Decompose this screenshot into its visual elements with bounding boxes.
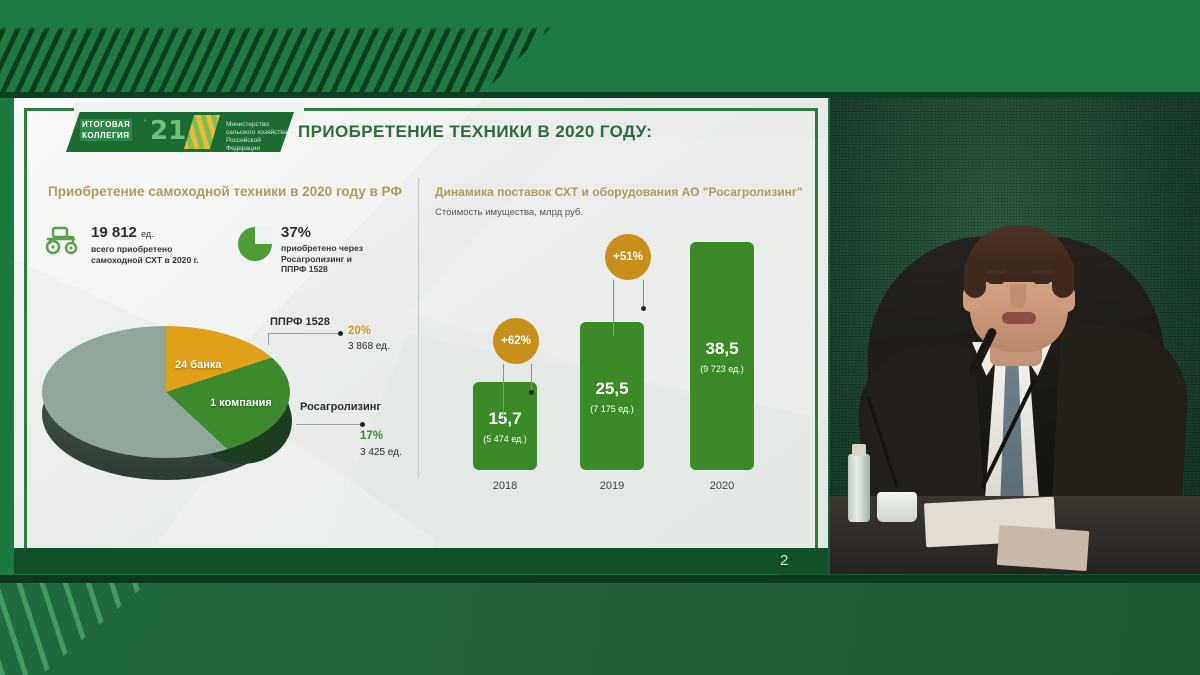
growth-badge-2020: +51% (605, 234, 651, 280)
bar-2018-value: 15,7 (488, 409, 521, 429)
background-bottom-band (0, 579, 1200, 675)
bar-2019-category: 2019 (580, 480, 644, 492)
pie-slice-label-banks: 24 банка (175, 359, 221, 371)
speaker-video-feed (830, 98, 1200, 574)
pie-slice-label-company: 1 компания (210, 397, 272, 409)
left-column-heading: Приобретение самоходной техники в 2020 г… (48, 184, 402, 199)
water-bottle-cap (852, 444, 866, 456)
growth-badge-2019-dot (529, 390, 534, 395)
speaker-hair-side-left (964, 258, 986, 298)
column-divider (418, 178, 419, 478)
logo-ministry-text: Министерство сельского хозяйства Российс… (226, 121, 294, 153)
kpi-total-unit: ед. (141, 229, 154, 239)
pie-chart-surface (42, 326, 290, 458)
bar-chart: 15,7 (5 474 ед.) 2018 25,5 (7 175 ед.) 2… (435, 240, 815, 500)
logo-wordmark: ИТОГОВАЯ КОЛЛЕГИЯ (80, 119, 132, 141)
tractor-icon (44, 225, 82, 255)
bar-2019-units: (7 175 ед.) (590, 404, 634, 414)
broadcast-screen: ИТОГОВАЯ КОЛЛЕГИЯ ’ 21 Министерство сель… (0, 0, 1200, 675)
drinking-glass (877, 492, 917, 522)
pie-icon (238, 227, 272, 261)
bar-2019-value: 25,5 (595, 379, 628, 399)
kpi-total-machinery: 19 812 ед. всего приобретено самоходной … (44, 225, 199, 265)
kpi-total-value: 19 812 ед. (91, 225, 199, 242)
callout-value-pprf: 3 868 ед. (348, 341, 390, 352)
growth-badge-2019-stem-left (503, 364, 504, 418)
kpi-share-description: приобретено через Росагролизинг и ППРФ 1… (281, 243, 363, 275)
bar-2020-units: (9 723 ед.) (700, 364, 744, 374)
bar-2019: 25,5 (7 175 ед.) (580, 322, 644, 470)
slide-title: ПРИОБРЕТЕНИЕ ТЕХНИКИ В 2020 ГОДУ: (298, 122, 652, 142)
speaker-hair-side-right (1052, 256, 1074, 298)
speaker-mouth (1002, 312, 1036, 324)
growth-badge-2019: +62% (493, 318, 539, 364)
callout-leader-rosagroleasing (296, 424, 362, 425)
bar-2018-units: (5 474 ед.) (483, 434, 527, 444)
callout-percent-pprf: 20% (348, 325, 371, 337)
growth-badge-2019-stem-right (531, 364, 532, 392)
kpi-total-description: всего приобретено самоходной СХТ в 2020 … (91, 244, 199, 265)
slide-footer (14, 548, 828, 574)
growth-badge-2020-dot (641, 306, 646, 311)
bar-2020-category: 2020 (690, 480, 754, 492)
logo-apostrophe: ’ (144, 118, 146, 128)
kpi-share-leasing: 37% приобретено через Росагролизинг и ПП… (238, 225, 363, 275)
callout-value-rosagroleasing: 3 425 ед. (360, 447, 402, 458)
bar-2020: 38,5 (9 723 ед.) (690, 242, 754, 470)
growth-badge-2020-stem-left (613, 280, 614, 336)
podium-papers-second (997, 525, 1090, 571)
background-bottom-divider (0, 575, 1200, 583)
speaker-eyebrow-left (986, 270, 1006, 274)
water-bottle (848, 454, 870, 522)
collegium-logo: ИТОГОВАЯ КОЛЛЕГИЯ ’ 21 Министерство сель… (66, 112, 294, 152)
speaker-eye-right (1034, 278, 1050, 284)
page-number: 2 (780, 552, 788, 569)
growth-badge-2020-stem-right (643, 280, 644, 308)
speaker-eye-left (988, 278, 1004, 284)
callout-title-rosagroleasing: Росагролизинг (300, 401, 381, 413)
kpi-share-value: 37% (281, 225, 363, 241)
logo-line-1: ИТОГОВАЯ (80, 119, 132, 130)
speaker-eyebrow-right (1032, 270, 1052, 274)
bar-2018-category: 2018 (473, 480, 537, 492)
bar-2018: 15,7 (5 474 ед.) (473, 382, 537, 470)
callout-dot-pprf (338, 331, 343, 336)
kpi-total-number: 19 812 (91, 224, 137, 241)
callout-percent-rosagroleasing: 17% (360, 430, 383, 442)
logo-year: 21 (150, 116, 186, 146)
callout-leader-pprf-down (268, 333, 269, 345)
bar-2020-value: 38,5 (705, 339, 738, 359)
speaker-nose (1010, 284, 1026, 308)
callout-title-pprf: ППРФ 1528 (270, 316, 330, 328)
right-column-subheading: Стоимость имущества, млрд руб. (435, 207, 583, 218)
pie-chart: 24 банка 1 компания (42, 318, 312, 488)
logo-line-2: КОЛЛЕГИЯ (80, 130, 132, 141)
right-column-heading: Динамика поставок СХТ и оборудования АО … (435, 185, 803, 199)
callout-leader-pprf (268, 333, 340, 334)
callout-dot-rosagroleasing (360, 422, 365, 427)
